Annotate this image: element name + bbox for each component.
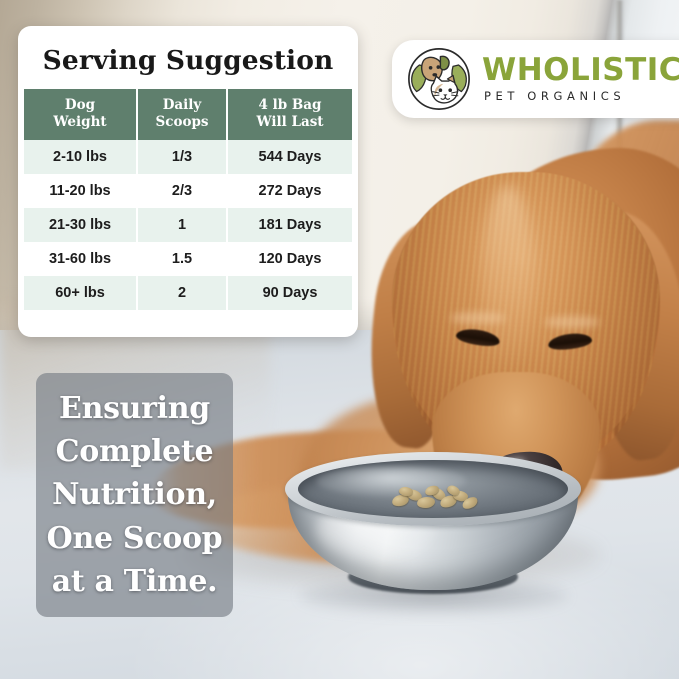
cell-dog-weight: 21-30 lbs <box>24 208 136 242</box>
tagline-line: Nutrition, <box>44 473 225 516</box>
table-body: 2-10 lbs 1/3 544 Days 11-20 lbs 2/3 272 … <box>24 140 352 310</box>
tagline-panel: Ensuring Complete Nutrition, One Scoop a… <box>36 373 233 617</box>
table-row: 2-10 lbs 1/3 544 Days <box>24 140 352 174</box>
cell-bag-duration: 544 Days <box>228 140 352 174</box>
cell-daily-scoops: 2 <box>138 276 226 310</box>
product-infographic: Serving Suggestion Dog Weight Daily Scoo… <box>0 0 679 679</box>
brand-name: WHOLISTIC ® <box>482 55 679 86</box>
column-header-line-2: Will Last <box>230 114 350 131</box>
column-header-dog-weight: Dog Weight <box>24 89 136 140</box>
dog-and-cat-circle-logo-icon <box>404 44 474 114</box>
table-row: 60+ lbs 2 90 Days <box>24 276 352 310</box>
column-header-bag-duration: 4 lb Bag Will Last <box>228 89 352 140</box>
cell-daily-scoops: 1.5 <box>138 242 226 276</box>
table-header-row: Dog Weight Daily Scoops 4 lb Bag Will La… <box>24 89 352 140</box>
cell-dog-weight: 2-10 lbs <box>24 140 136 174</box>
cell-bag-duration: 272 Days <box>228 174 352 208</box>
serving-suggestion-card: Serving Suggestion Dog Weight Daily Scoo… <box>18 26 358 337</box>
tagline-line: Complete <box>44 430 225 473</box>
tagline-line: One Scoop <box>44 517 225 560</box>
brand-wordmark: WHOLISTIC ® PET ORGANICS <box>482 55 679 103</box>
column-header-line-2: Weight <box>26 114 134 131</box>
cell-bag-duration: 90 Days <box>228 276 352 310</box>
table-row: 31-60 lbs 1.5 120 Days <box>24 242 352 276</box>
cell-dog-weight: 31-60 lbs <box>24 242 136 276</box>
column-header-line-1: Daily <box>140 97 224 114</box>
cell-dog-weight: 11-20 lbs <box>24 174 136 208</box>
serving-suggestion-table: Dog Weight Daily Scoops 4 lb Bag Will La… <box>22 89 354 310</box>
dog-right-brow <box>544 316 600 328</box>
brand-name-text: WHOLISTIC <box>482 52 679 88</box>
table-row: 11-20 lbs 2/3 272 Days <box>24 174 352 208</box>
table-header: Dog Weight Daily Scoops 4 lb Bag Will La… <box>24 89 352 140</box>
cell-daily-scoops: 1/3 <box>138 140 226 174</box>
column-header-daily-scoops: Daily Scoops <box>138 89 226 140</box>
cell-bag-duration: 181 Days <box>228 208 352 242</box>
cell-daily-scoops: 1 <box>138 208 226 242</box>
cell-bag-duration: 120 Days <box>228 242 352 276</box>
cell-dog-weight: 60+ lbs <box>24 276 136 310</box>
page-title: Serving Suggestion <box>18 26 358 89</box>
brand-logo-badge: WHOLISTIC ® PET ORGANICS <box>392 40 679 118</box>
tagline-line: at a Time. <box>44 560 225 603</box>
column-header-line-1: 4 lb Bag <box>230 97 350 114</box>
column-header-line-1: Dog <box>26 97 134 114</box>
kibble-pile <box>390 486 480 512</box>
table-row: 21-30 lbs 1 181 Days <box>24 208 352 242</box>
dog-forehead-blaze <box>482 185 534 375</box>
dog-left-brow <box>450 312 506 324</box>
cell-daily-scoops: 2/3 <box>138 174 226 208</box>
column-header-line-2: Scoops <box>140 114 224 131</box>
brand-tagline: PET ORGANICS <box>484 91 679 103</box>
tagline-line: Ensuring <box>44 387 225 430</box>
